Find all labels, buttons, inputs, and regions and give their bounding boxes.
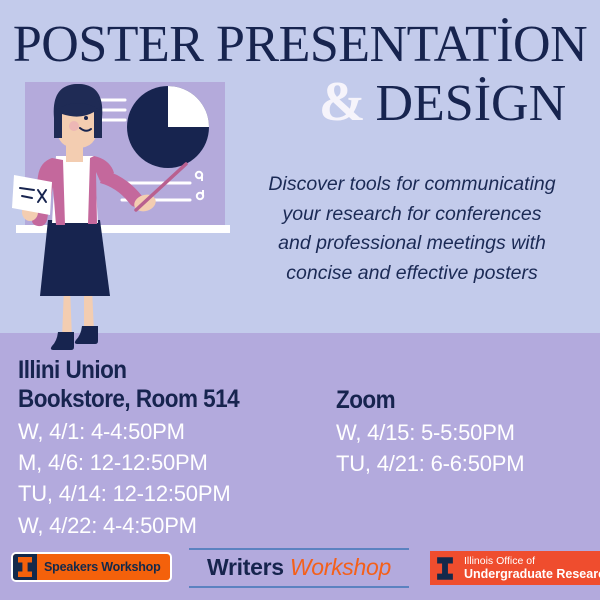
session-item: W, 4/15: 5-5:50PM: [336, 417, 598, 448]
session-list-illini-union: W, 4/1: 4-4:50PM M, 4/6: 12-12:50PM TU, …: [18, 416, 338, 541]
schedule-column-zoom: Zoom W, 4/15: 5-5:50PM TU, 4/21: 6-6:50P…: [336, 386, 598, 479]
venue-name-line-1: Illini Union: [18, 356, 306, 385]
illinois-i-block-icon: [13, 554, 37, 580]
iour-line-2: Undergraduate Research: [464, 567, 600, 581]
session-item: M, 4/6: 12-12:50PM: [18, 447, 338, 478]
session-item: TU, 4/14: 12-12:50PM: [18, 478, 338, 509]
ampersand-glyph: &: [319, 71, 366, 133]
poster-title-line-2: &DESİGN: [285, 74, 600, 130]
venue-name-zoom: Zoom: [336, 386, 572, 415]
schedule-column-illini-union: Illini Union Bookstore, Room 514 W, 4/1:…: [18, 356, 338, 541]
poster-canvas: POSTER PRESENTATİON &DESİGN Discover too…: [0, 0, 600, 600]
logo-writers-workshop-label: Writers Workshop: [189, 554, 409, 581]
figure-notes: [12, 175, 52, 215]
illinois-i-block-icon: [433, 554, 457, 582]
workshop-word: Workshop: [290, 554, 391, 580]
figure-skirt: [40, 220, 110, 296]
session-item: W, 4/22: 4-4:50PM: [18, 510, 338, 541]
logo-undergraduate-research-label: Illinois Office of Undergraduate Researc…: [457, 554, 600, 582]
description-line-2: your research for conferences: [228, 200, 596, 230]
presenter-illustration: [0, 60, 240, 360]
logo-writers-workshop[interactable]: Writers Workshop: [189, 548, 409, 588]
venue-name-line-2: Bookstore, Room 514: [18, 385, 306, 414]
poster-title-design: DESİGN: [375, 75, 566, 132]
poster-title-line-1: POSTER PRESENTATİON: [0, 19, 600, 71]
figure-shoes: [51, 326, 98, 350]
logo-undergraduate-research[interactable]: Illinois Office of Undergraduate Researc…: [430, 551, 600, 585]
footer-logo-bar: Speakers Workshop Writers Workshop Illin…: [0, 541, 600, 600]
session-item: W, 4/1: 4-4:50PM: [18, 416, 338, 447]
logo-speakers-workshop[interactable]: Speakers Workshop: [11, 552, 172, 582]
session-item: TU, 4/21: 6-6:50PM: [336, 448, 598, 479]
board-pie-chart: [127, 86, 209, 168]
poster-description: Discover tools for communicating your re…: [228, 170, 596, 289]
schedule-section: Illini Union Bookstore, Room 514 W, 4/1:…: [0, 356, 600, 541]
logo-speakers-workshop-label: Speakers Workshop: [37, 554, 170, 580]
session-list-zoom: W, 4/15: 5-5:50PM TU, 4/21: 6-6:50PM: [336, 417, 598, 479]
iour-line-1: Illinois Office of: [464, 555, 600, 567]
description-line-1: Discover tools for communicating: [228, 170, 596, 200]
description-line-3: and professional meetings with: [228, 229, 596, 259]
description-line-4: concise and effective posters: [228, 259, 596, 289]
writers-word: Writers: [207, 554, 284, 580]
logo-speakers-workshop-body: Speakers Workshop: [13, 554, 170, 580]
